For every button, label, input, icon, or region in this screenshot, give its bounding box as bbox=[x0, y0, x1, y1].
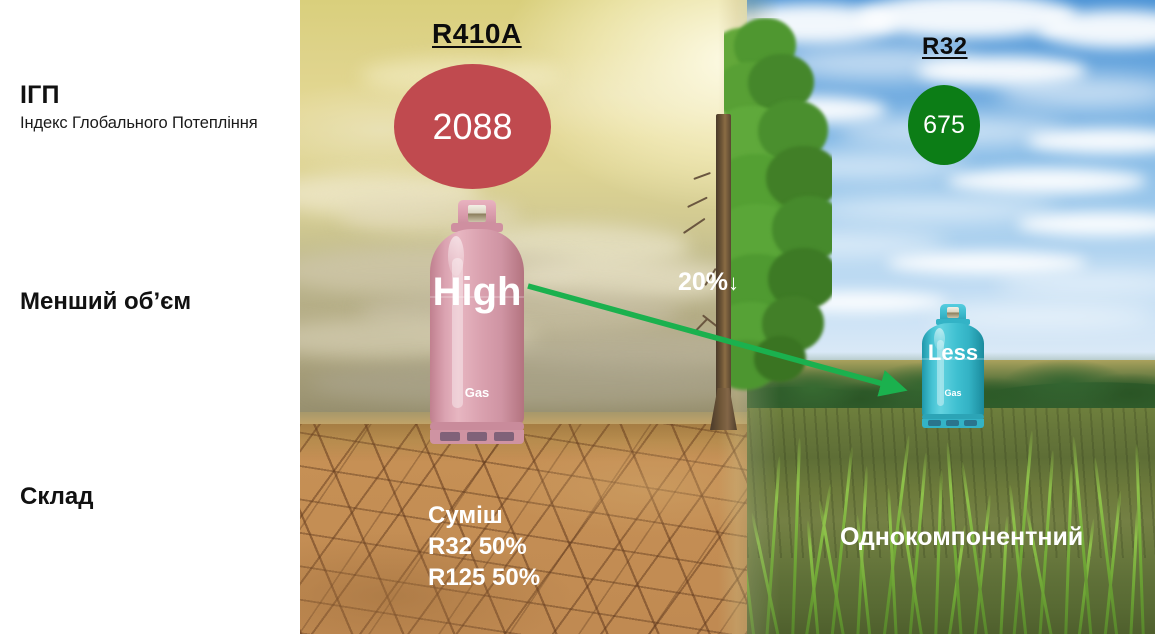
cylinder-valve bbox=[947, 307, 959, 318]
slide-root: ІГП Індекс Глобального Потепління Менший… bbox=[0, 0, 1155, 634]
reduction-annotation: 20%↓ bbox=[678, 268, 739, 297]
caption-mixture: Суміш R32 50% R125 50% bbox=[428, 500, 540, 594]
cylinder-valve bbox=[468, 205, 486, 222]
cylinder-label-less: Less bbox=[922, 340, 984, 366]
caption-single-component: Однокомпонентний bbox=[840, 521, 1083, 554]
sky-cloud bbox=[807, 196, 1057, 222]
reduction-value: 20% bbox=[678, 268, 728, 296]
cylinder-base-slot bbox=[494, 432, 514, 441]
cylinder-label-gas: Gas bbox=[922, 388, 984, 398]
cylinder-base-slot bbox=[467, 432, 487, 441]
cylinder-body bbox=[922, 323, 984, 417]
gwp-value-r32: 675 bbox=[923, 111, 965, 140]
gwp-value-r410a: 2088 bbox=[432, 106, 512, 148]
cylinder-base-slot bbox=[928, 420, 941, 426]
gwp-full-name: Індекс Глобального Потепління bbox=[20, 113, 300, 134]
comparison-photo: R410A R32 2088 675 High Gas bbox=[300, 0, 1155, 634]
header-r32: R32 bbox=[922, 33, 968, 61]
cylinder-r32: Less Gas bbox=[922, 304, 984, 428]
cylinder-base-slot bbox=[946, 420, 959, 426]
cylinder-r410a: High Gas bbox=[430, 200, 524, 444]
cylinder-base-slot bbox=[964, 420, 977, 426]
cylinder-label-high: High bbox=[430, 270, 524, 315]
label-column: ІГП Індекс Глобального Потепління Менший… bbox=[0, 0, 300, 634]
header-r410a: R410A bbox=[432, 18, 522, 50]
gwp-label-group: ІГП Індекс Глобального Потепління bbox=[20, 82, 300, 133]
cylinder-label-gas: Gas bbox=[430, 385, 524, 400]
composition-label: Склад bbox=[20, 483, 93, 511]
gwp-abbreviation: ІГП bbox=[20, 82, 300, 110]
volume-label: Менший об’єм bbox=[20, 288, 191, 316]
sky-cloud bbox=[947, 168, 1147, 194]
tree-foliage bbox=[724, 18, 832, 398]
sky-cloud bbox=[887, 252, 1087, 274]
cylinder-base-slot bbox=[440, 432, 460, 441]
split-tree bbox=[672, 18, 832, 430]
down-arrow-icon: ↓ bbox=[728, 270, 739, 295]
gwp-bubble-r32: 675 bbox=[908, 85, 980, 165]
gwp-bubble-r410a: 2088 bbox=[394, 64, 551, 189]
foreground-grass bbox=[747, 404, 1155, 634]
